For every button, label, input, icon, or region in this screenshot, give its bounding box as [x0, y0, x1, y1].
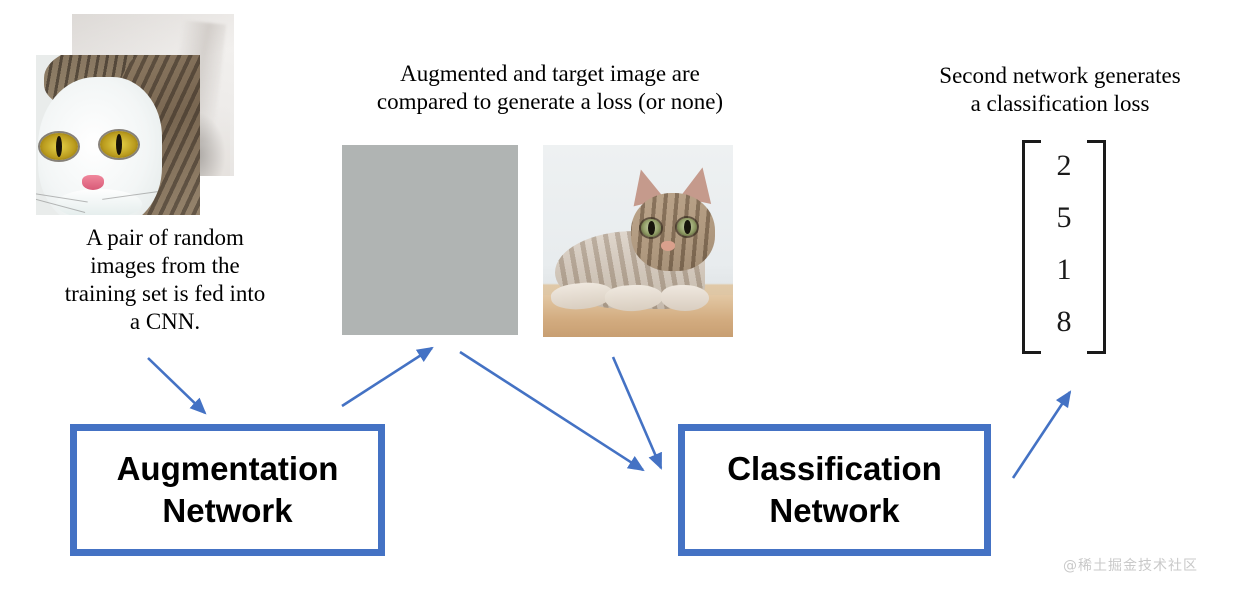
vector-value: 5: [1057, 203, 1072, 233]
vector-value: 8: [1057, 307, 1072, 337]
diagram-canvas: A pair of random images from the trainin…: [0, 0, 1240, 600]
vector-value: 2: [1057, 151, 1072, 181]
classification-vector: 2 5 1 8: [1018, 140, 1110, 348]
cat-chin: [56, 189, 142, 215]
middle-caption: Augmented and target image are compared …: [310, 60, 790, 116]
source-photo-front: [36, 55, 200, 215]
classification-network-box[interactable]: Classification Network: [678, 424, 991, 556]
right-caption: Second network generates a classificatio…: [890, 62, 1230, 118]
arrow-augmented-image-to-classification: [460, 352, 643, 470]
classification-network-label: Classification Network: [727, 448, 942, 531]
arrow-target-image-to-classification: [613, 357, 661, 468]
cat-nose: [82, 175, 104, 190]
vector-value: 1: [1057, 255, 1072, 285]
arrow-input-to-augmentation: [148, 358, 205, 413]
kitten-eye-left: [641, 219, 661, 237]
arrow-classification-to-vector: [1013, 392, 1070, 478]
kitten-paw: [661, 285, 709, 311]
kitten-nose: [661, 241, 675, 251]
watermark: @稀土掘金技术社区: [1063, 555, 1198, 575]
augmentation-network-label: Augmentation Network: [117, 448, 339, 531]
augmented-image: [342, 145, 518, 335]
target-image: [543, 145, 733, 337]
cat-eye-left: [40, 133, 78, 160]
input-caption: A pair of random images from the trainin…: [10, 224, 320, 336]
arrow-augmentation-to-augmented-image: [342, 348, 432, 406]
kitten-eye-right: [677, 218, 697, 236]
vector-values: 2 5 1 8: [1018, 140, 1110, 348]
augmentation-network-box[interactable]: Augmentation Network: [70, 424, 385, 556]
cat-eye-right: [100, 131, 138, 158]
